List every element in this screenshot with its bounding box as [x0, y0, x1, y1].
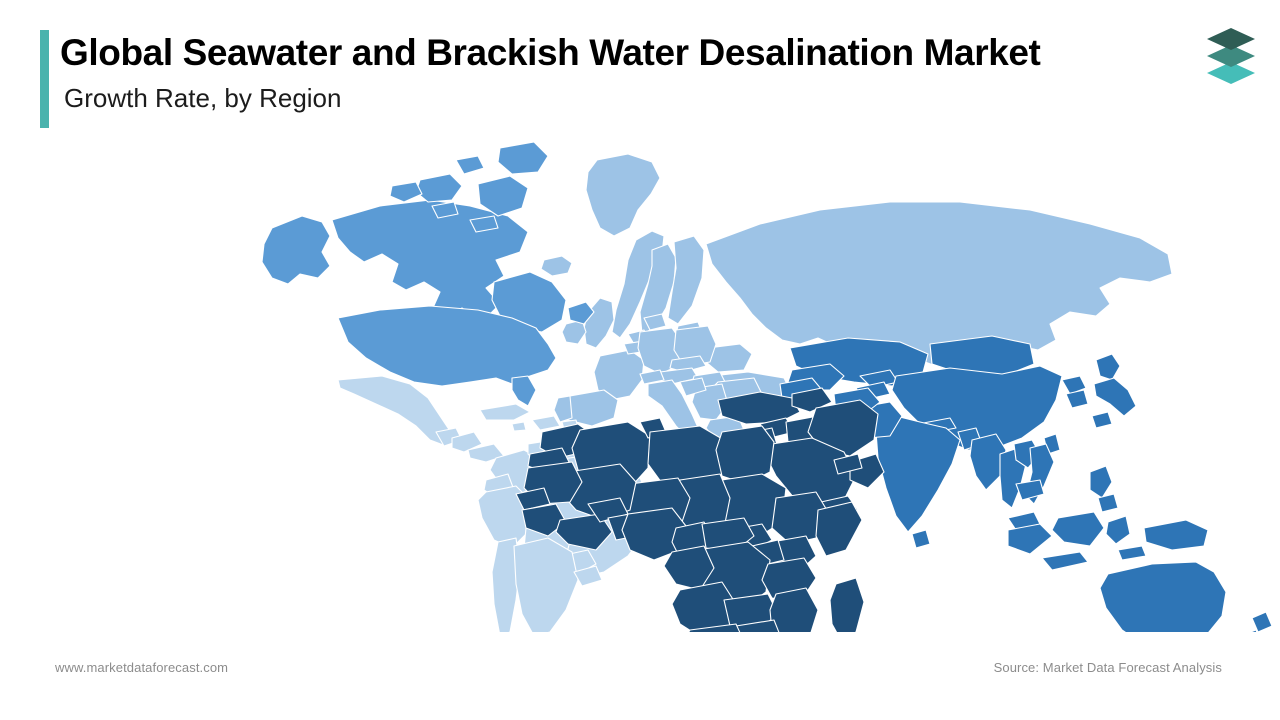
country-philippines — [1090, 466, 1112, 498]
title-accent-bar — [40, 30, 49, 128]
country-papua-new-guinea — [1144, 520, 1208, 550]
island-hispaniola — [532, 416, 560, 430]
country-timor — [1118, 546, 1146, 560]
map-region-north-america[interactable] — [262, 142, 594, 406]
logo-layer-top-icon — [1207, 28, 1255, 50]
country-sri-lanka — [912, 530, 930, 548]
footer-source: Source: Market Data Forecast Analysis — [994, 660, 1222, 675]
country-madagascar — [830, 578, 864, 632]
country-japan — [1096, 354, 1120, 380]
island-ellesmere — [498, 142, 548, 174]
country-somalia — [816, 502, 862, 556]
country-japan-kyushu — [1092, 412, 1112, 428]
island-jamaica — [512, 422, 526, 431]
title-block: Global Seawater and Brackish Water Desal… — [60, 32, 1170, 114]
country-borneo — [1052, 512, 1104, 546]
country-java — [1042, 552, 1088, 570]
page-subtitle: Growth Rate, by Region — [64, 83, 1170, 114]
country-greenland — [586, 154, 660, 236]
island-cuba — [480, 404, 530, 420]
country-philippines-south — [1098, 494, 1118, 512]
country-mexico — [338, 376, 452, 446]
country-new-zealand-north — [1252, 612, 1272, 632]
footer-website[interactable]: www.marketdataforecast.com — [55, 660, 228, 675]
country-us-florida — [512, 376, 536, 406]
country-iceland — [541, 256, 572, 276]
world-choropleth-map — [0, 132, 1280, 632]
country-australia — [1100, 562, 1226, 632]
page-title: Global Seawater and Brackish Water Desal… — [60, 32, 1170, 75]
island-victoria — [416, 174, 462, 202]
country-cambodia — [1016, 480, 1044, 500]
country-alaska — [262, 216, 330, 284]
country-sumatra — [1008, 524, 1052, 554]
country-sulawesi — [1106, 516, 1130, 544]
country-portugal — [554, 396, 572, 422]
country-malawi-mozambique — [770, 588, 818, 632]
stacked-layers-logo — [1194, 20, 1268, 94]
country-japan-honshu — [1094, 378, 1136, 416]
country-argentina — [514, 538, 578, 632]
page-footer: www.marketdataforecast.com Source: Marke… — [0, 646, 1280, 720]
island-banks — [390, 182, 422, 202]
page-header: Global Seawater and Brackish Water Desal… — [0, 0, 1280, 140]
island-arctic-small-1 — [456, 156, 484, 174]
